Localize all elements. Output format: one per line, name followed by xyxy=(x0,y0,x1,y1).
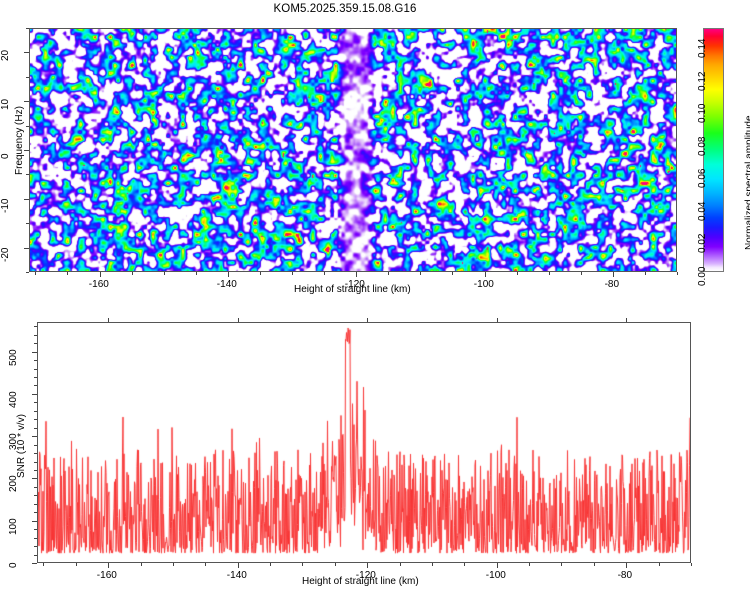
spectrogram-x-minor-tick xyxy=(549,272,550,275)
snr-y-minor-tick xyxy=(34,360,37,361)
snr-y-minor-tick xyxy=(34,462,37,463)
snr-y-tick-label: 500 xyxy=(8,349,19,366)
spectrogram-x-minor-tick xyxy=(517,272,518,275)
spectrogram-x-minor-tick xyxy=(324,272,325,275)
snr-y-minor-tick xyxy=(34,538,37,539)
snr-y-tick-label: 400 xyxy=(8,391,19,408)
snr-y-minor-tick xyxy=(34,453,37,454)
snr-y-minor-tick xyxy=(34,343,37,344)
snr-x-tick-label: -160 xyxy=(97,570,117,581)
snr-x-tick-top xyxy=(238,318,239,322)
snr-x-tick xyxy=(626,563,627,568)
snr-x-tick xyxy=(108,563,109,568)
snr-y-minor-tick xyxy=(34,335,37,336)
spectrogram-x-tick xyxy=(485,272,486,277)
spectrogram-y-axis-title: Frequency (Hz) xyxy=(14,106,25,175)
spectrogram-y-minor-tick xyxy=(26,28,29,29)
spectrogram-x-minor-tick xyxy=(196,272,197,275)
spectrogram-y-minor-tick xyxy=(26,223,29,224)
snr-y-minor-tick xyxy=(34,495,37,496)
snr-x-tick-label: -140 xyxy=(227,570,247,581)
figure-canvas: KOM5.2025.359.15.08.G16 20100-10-20 -160… xyxy=(0,0,750,600)
spectrogram-y-tick xyxy=(24,101,29,102)
spectrogram-x-minor-tick xyxy=(452,272,453,275)
colorbar-tick-label: 0.04 xyxy=(697,202,708,221)
snr-y-minor-tick xyxy=(34,512,37,513)
snr-x-minor-tick xyxy=(302,563,303,566)
snr-y-minor-tick xyxy=(34,555,37,556)
spectrogram-y-tick-label: -10 xyxy=(0,199,11,213)
snr-x-minor-tick xyxy=(270,563,271,566)
spectrogram-y-tick xyxy=(24,199,29,200)
snr-y-minor-tick xyxy=(34,419,37,420)
snr-y-minor-tick xyxy=(34,377,37,378)
snr-x-tick xyxy=(367,563,368,568)
colorbar-tick-label: 0.00 xyxy=(697,267,708,286)
snr-y-axis-title: SNR (10 * v/v) xyxy=(16,414,27,478)
snr-x-minor-tick xyxy=(173,563,174,566)
snr-x-tick-top xyxy=(367,318,368,322)
snr-x-axis-title: Height of straight line (km) xyxy=(302,576,419,587)
page-title: KOM5.2025.359.15.08.G16 xyxy=(0,3,690,15)
colorbar-tick-label: 0.08 xyxy=(697,137,708,156)
spectrogram-y-minor-tick xyxy=(26,77,29,78)
spectrogram-x-tick xyxy=(100,272,101,277)
snr-trace-line xyxy=(38,323,690,562)
snr-y-minor-tick xyxy=(34,546,37,547)
spectrogram-x-minor-tick xyxy=(260,272,261,275)
spectrogram-x-minor-tick xyxy=(35,272,36,275)
snr-y-minor-tick xyxy=(34,428,37,429)
snr-x-tick xyxy=(497,563,498,568)
spectrogram-plot[interactable] xyxy=(29,28,677,272)
snr-y-tick xyxy=(32,521,37,522)
spectrogram-x-minor-tick xyxy=(388,272,389,275)
spectrogram-y-tick-label: -20 xyxy=(0,248,11,262)
snr-y-minor-tick xyxy=(34,411,37,412)
snr-x-tick-top xyxy=(497,318,498,322)
snr-x-minor-tick xyxy=(400,563,401,566)
colorbar-tick-label: 0.02 xyxy=(697,234,708,253)
snr-x-tick-top xyxy=(626,318,627,322)
spectrogram-x-tick xyxy=(356,272,357,277)
spectrogram-x-tick-label: -80 xyxy=(605,279,619,290)
snr-y-minor-tick xyxy=(34,529,37,530)
snr-x-minor-tick xyxy=(141,563,142,566)
spectrogram-x-minor-tick xyxy=(292,272,293,275)
snr-x-tick-label: -80 xyxy=(618,570,632,581)
spectrogram-x-minor-tick xyxy=(67,272,68,275)
spectrogram-x-axis-title: Height of straight line (km) xyxy=(294,284,411,295)
spectrogram-y-minor-tick xyxy=(26,174,29,175)
snr-y-minor-tick xyxy=(34,445,37,446)
snr-y-tick-label: 0 xyxy=(8,562,19,568)
snr-y-minor-tick xyxy=(34,487,37,488)
colorbar-title: Normalized spectral amplitude xyxy=(744,115,750,250)
snr-x-tick-top xyxy=(108,318,109,322)
colorbar-tick-label: 0.12 xyxy=(697,72,708,91)
snr-y-minor-tick xyxy=(34,402,37,403)
colorbar-tick-label: 0.06 xyxy=(697,169,708,188)
spectrogram-x-tick-label: -100 xyxy=(474,279,494,290)
spectrogram-y-minor-tick xyxy=(26,126,29,127)
spectrogram-x-minor-tick xyxy=(645,272,646,275)
snr-y-tick xyxy=(32,394,37,395)
spectrogram-y-minor-tick xyxy=(26,272,29,273)
snr-y-tick xyxy=(32,563,37,564)
snr-y-minor-tick xyxy=(34,326,37,327)
colorbar-tick-label: 0.10 xyxy=(697,104,708,123)
snr-y-minor-tick xyxy=(34,369,37,370)
snr-y-minor-tick xyxy=(34,504,37,505)
spectrogram-x-tick xyxy=(228,272,229,277)
snr-x-minor-tick xyxy=(432,563,433,566)
snr-y-tick xyxy=(32,352,37,353)
spectrogram-image xyxy=(30,29,676,271)
snr-x-minor-tick xyxy=(659,563,660,566)
spectrogram-x-tick-label: -140 xyxy=(217,279,237,290)
spectrogram-x-minor-tick xyxy=(420,272,421,275)
snr-y-tick-label: 100 xyxy=(8,518,19,535)
snr-x-minor-tick xyxy=(43,563,44,566)
snr-x-minor-tick xyxy=(529,563,530,566)
snr-x-minor-tick xyxy=(691,563,692,566)
snr-x-minor-tick xyxy=(205,563,206,566)
colorbar-tick-label: 0.14 xyxy=(697,39,708,58)
spectrogram-y-tick-label: 20 xyxy=(0,50,11,61)
snr-x-minor-tick xyxy=(561,563,562,566)
spectrogram-x-minor-tick xyxy=(677,272,678,275)
spectrogram-y-tick xyxy=(24,52,29,53)
spectrogram-y-tick-label: 10 xyxy=(0,99,11,110)
spectrogram-y-tick xyxy=(24,248,29,249)
spectrogram-x-minor-tick xyxy=(581,272,582,275)
snr-y-minor-tick xyxy=(34,470,37,471)
snr-x-minor-tick xyxy=(464,563,465,566)
snr-y-minor-tick xyxy=(34,385,37,386)
snr-x-tick-label: -100 xyxy=(486,570,506,581)
snr-y-tick xyxy=(32,478,37,479)
spectrogram-y-tick-label: 0 xyxy=(0,153,11,159)
snr-x-minor-tick xyxy=(335,563,336,566)
snr-y-tick xyxy=(32,436,37,437)
snr-x-tick xyxy=(238,563,239,568)
snr-x-minor-tick xyxy=(594,563,595,566)
spectrogram-x-minor-tick xyxy=(132,272,133,275)
spectrogram-x-minor-tick xyxy=(164,272,165,275)
spectrogram-x-tick-label: -160 xyxy=(89,279,109,290)
snr-plot[interactable] xyxy=(37,322,691,563)
snr-x-minor-tick xyxy=(76,563,77,566)
spectrogram-x-tick xyxy=(613,272,614,277)
